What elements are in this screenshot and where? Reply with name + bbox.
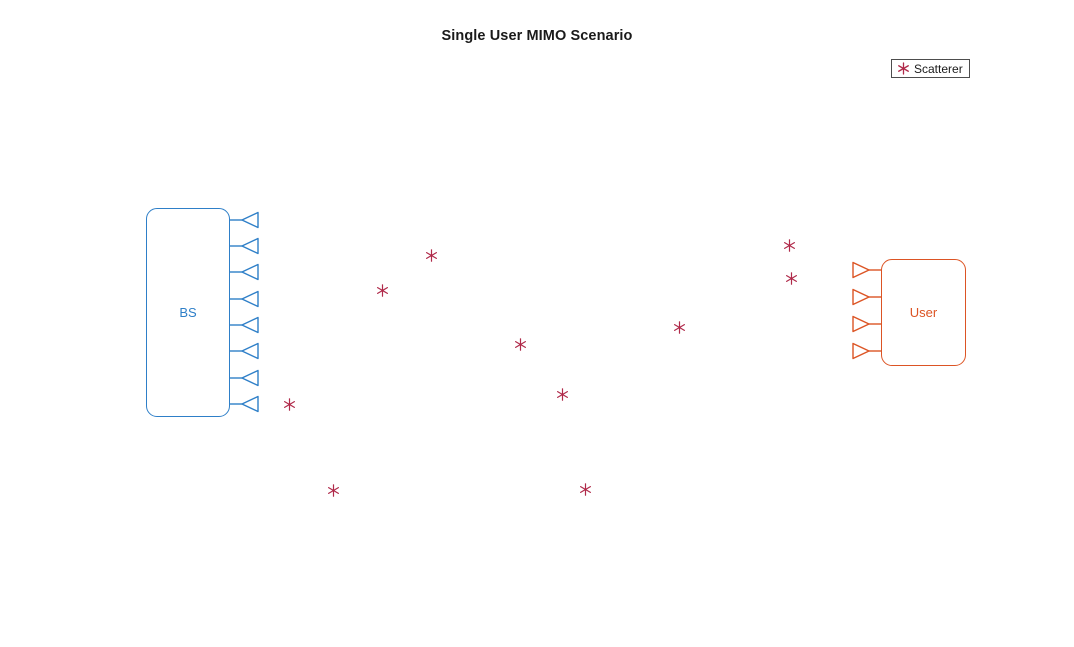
scatterer-marker xyxy=(579,483,592,496)
scatterer-marker xyxy=(673,321,686,334)
user-box[interactable]: User xyxy=(881,259,966,366)
scatterer-marker xyxy=(785,272,798,285)
legend-box[interactable]: Scatterer xyxy=(891,59,970,78)
base-station-antenna xyxy=(230,236,261,256)
scatterer-marker xyxy=(556,388,569,401)
user-antenna xyxy=(850,260,881,280)
scatterer-marker xyxy=(283,398,296,411)
page-title: Single User MIMO Scenario xyxy=(0,28,1074,44)
scatterer-marker xyxy=(327,484,340,497)
scatterer-marker xyxy=(783,239,796,252)
base-station-box[interactable]: BS xyxy=(146,208,230,417)
base-station-antenna xyxy=(230,341,261,361)
base-station-antenna xyxy=(230,368,261,388)
user-antenna xyxy=(850,287,881,307)
figure-canvas: Single User MIMO Scenario Scatterer BS U… xyxy=(0,0,1074,647)
scatterer-marker xyxy=(425,249,438,262)
legend-item-scatterer-label: Scatterer xyxy=(914,63,963,75)
scatterer-marker xyxy=(514,338,527,351)
scatterer-marker xyxy=(376,284,389,297)
base-station-antenna xyxy=(230,210,261,230)
user-antenna xyxy=(850,341,881,361)
base-station-antenna xyxy=(230,289,261,309)
base-station-antenna xyxy=(230,262,261,282)
base-station-antenna xyxy=(230,394,261,414)
user-label: User xyxy=(910,306,937,319)
asterisk-marker-icon xyxy=(897,62,910,75)
base-station-label: BS xyxy=(179,306,196,319)
user-antenna xyxy=(850,314,881,334)
base-station-antenna xyxy=(230,315,261,335)
